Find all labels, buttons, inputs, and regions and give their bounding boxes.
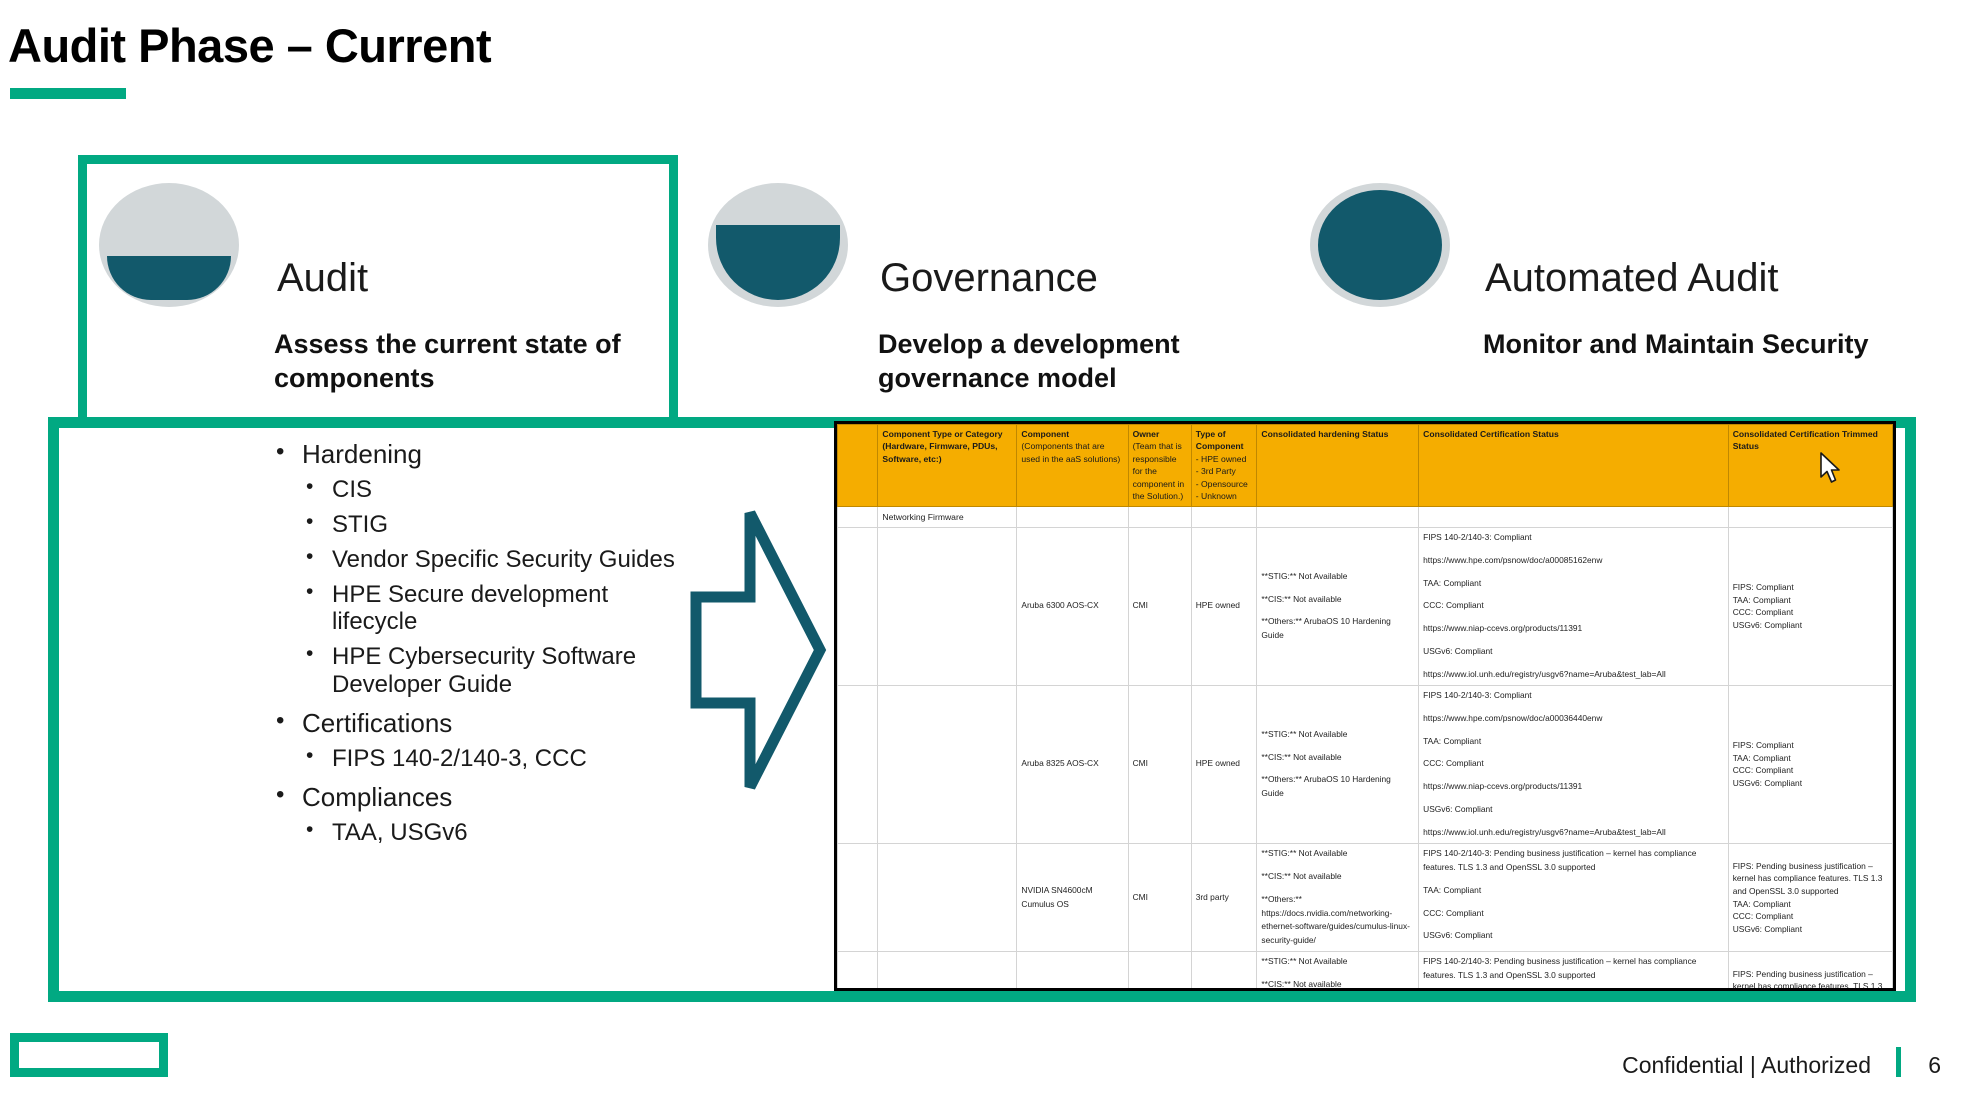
- mouse-cursor-icon: [1820, 452, 1846, 486]
- certification-line: FIPS 140-2/140-3: Pending business justi…: [1423, 847, 1724, 875]
- trimmed-line: TAA: Compliant: [1733, 594, 1888, 607]
- footer-classification: Confidential | Authorized: [1622, 1052, 1871, 1079]
- certification-line: CCC: Compliant: [1423, 757, 1724, 771]
- hardening-line: **CIS:** Not available: [1261, 978, 1414, 991]
- trimmed-line: FIPS: Compliant: [1733, 581, 1888, 594]
- list-item: Vendor Specific Security Guides: [302, 546, 692, 574]
- trimmed-line: FIPS: Pending business justification – k…: [1733, 860, 1888, 898]
- table-row[interactable]: NVIDIA SN4700M Cumulus OS CMI 3rd party …: [838, 952, 1893, 991]
- column-header-certification-status[interactable]: Consolidated Certification Status: [1419, 425, 1729, 507]
- owner-cell[interactable]: CMI: [1128, 527, 1191, 685]
- filled-circle-icon: [1310, 183, 1450, 307]
- owner-cell[interactable]: CMI: [1128, 952, 1191, 991]
- table-row[interactable]: Aruba 8325 AOS-CX CMI HPE owned **STIG:*…: [838, 685, 1893, 843]
- certification-line: USGv6: Compliant: [1423, 645, 1724, 659]
- trimmed-cell[interactable]: FIPS: Compliant TAA: Compliant CCC: Comp…: [1728, 685, 1892, 843]
- title-accent-rule: [10, 88, 126, 99]
- hardening-line: **STIG:** Not Available: [1261, 955, 1414, 969]
- trimmed-cell[interactable]: FIPS: Pending business justification – k…: [1728, 952, 1892, 991]
- type-cell[interactable]: 3rd party: [1191, 952, 1257, 991]
- trimmed-cell[interactable]: FIPS: Pending business justification – k…: [1728, 843, 1892, 951]
- page-title: Audit Phase – Current: [8, 18, 491, 73]
- certification-line: TAA: Compliant: [1423, 884, 1724, 898]
- table-row[interactable]: Aruba 6300 AOS-CX CMI HPE owned **STIG:*…: [838, 527, 1893, 685]
- type-cell[interactable]: [1191, 506, 1257, 527]
- certification-line: CCC: Compliant: [1423, 599, 1724, 613]
- certification-cell[interactable]: FIPS 140-2/140-3: Pending business justi…: [1419, 952, 1729, 991]
- column-header-type-label: Type of Component: [1196, 428, 1253, 453]
- hardening-line: **STIG:** Not Available: [1261, 847, 1414, 861]
- certification-line: TAA: Compliant: [1423, 735, 1724, 749]
- type-cell[interactable]: 3rd party: [1191, 843, 1257, 951]
- column-header-rownum[interactable]: [838, 425, 878, 507]
- certification-line: https://www.iol.unh.edu/registry/usgv6?n…: [1423, 826, 1724, 840]
- column-header-hardening-label: Consolidated hardening Status: [1261, 428, 1414, 440]
- table-header-row: Component Type or Category (Hardware, Fi…: [838, 425, 1893, 507]
- phase-audit-title: Audit: [277, 256, 368, 301]
- column-header-component-type-label: Component Type or Category (Hardware, Fi…: [882, 428, 1012, 465]
- component-cell[interactable]: [1017, 506, 1128, 527]
- page-number: 6: [1928, 1052, 1941, 1079]
- hardening-cell[interactable]: **STIG:** Not Available **CIS:** Not ava…: [1257, 685, 1419, 843]
- row-number-cell[interactable]: [838, 952, 878, 991]
- trimmed-line: CCC: Compliant: [1733, 764, 1888, 777]
- column-header-type-of-component[interactable]: Type of Component - HPE owned - 3rd Part…: [1191, 425, 1257, 507]
- trimmed-cell[interactable]: [1728, 506, 1892, 527]
- category-cell[interactable]: [878, 527, 1017, 685]
- column-header-component-type[interactable]: Component Type or Category (Hardware, Fi…: [878, 425, 1017, 507]
- column-header-hardening-status[interactable]: Consolidated hardening Status: [1257, 425, 1419, 507]
- list-item: Hardening: [272, 439, 692, 469]
- hardening-line: **CIS:** Not available: [1261, 870, 1414, 884]
- hardening-cell[interactable]: **STIG:** Not Available **CIS:** Not ava…: [1257, 527, 1419, 685]
- list-item: TAA, USGv6: [302, 819, 692, 847]
- type-cell[interactable]: HPE owned: [1191, 685, 1257, 843]
- table-row[interactable]: Networking Firmware: [838, 506, 1893, 527]
- hardening-line: **CIS:** Not available: [1261, 593, 1414, 607]
- certification-line: https://www.hpe.com/psnow/doc/a00085162e…: [1423, 554, 1724, 568]
- owner-cell[interactable]: CMI: [1128, 685, 1191, 843]
- type-cell[interactable]: HPE owned: [1191, 527, 1257, 685]
- hardening-line: **STIG:** Not Available: [1261, 570, 1414, 584]
- hpe-logo: [10, 1033, 168, 1077]
- trimmed-line: FIPS: Compliant: [1733, 739, 1888, 752]
- two-thirds-filled-circle-icon: [708, 183, 848, 307]
- certification-line: FIPS 140-2/140-3: Compliant: [1423, 689, 1724, 703]
- column-header-owner[interactable]: Owner (Team that is responsible for the …: [1128, 425, 1191, 507]
- list-item: CIS: [302, 476, 692, 504]
- certification-cell[interactable]: [1419, 506, 1729, 527]
- list-item: STIG: [302, 511, 692, 539]
- certification-line: CCC: Compliant: [1423, 907, 1724, 921]
- owner-cell[interactable]: [1128, 506, 1191, 527]
- certification-cell[interactable]: FIPS 140-2/140-3: Compliant https://www.…: [1419, 527, 1729, 685]
- table-row[interactable]: NVIDIA SN4600cM Cumulus OS CMI 3rd party…: [838, 843, 1893, 951]
- hardening-line: **CIS:** Not available: [1261, 751, 1414, 765]
- list-item: HPE Cybersecurity Software Developer Gui…: [302, 643, 692, 699]
- certification-line: TAA: Compliant: [1423, 577, 1724, 591]
- trimmed-line: FIPS: Pending business justification – k…: [1733, 968, 1888, 991]
- column-header-trimmed-label: Consolidated Certification Trimmed Statu…: [1733, 428, 1888, 453]
- trimmed-line: USGv6: Compliant: [1733, 777, 1888, 790]
- list-item: HPE Secure development lifecycle: [302, 581, 692, 637]
- column-header-type-note: - HPE owned - 3rd Party - Opensource - U…: [1196, 453, 1253, 503]
- table-body: Networking Firmware Aruba 6300 AOS-CX CM…: [838, 506, 1893, 991]
- category-cell[interactable]: Networking Firmware: [878, 506, 1017, 527]
- trimmed-line: CCC: Compliant: [1733, 606, 1888, 619]
- trimmed-line: TAA: Compliant: [1733, 898, 1888, 911]
- trimmed-line: TAA: Compliant: [1733, 752, 1888, 765]
- row-number-cell[interactable]: [838, 843, 878, 951]
- trimmed-line: USGv6: Compliant: [1733, 619, 1888, 632]
- column-header-owner-label: Owner: [1133, 428, 1187, 440]
- audit-detail-list: Hardening CIS STIG Vendor Specific Secur…: [272, 430, 692, 847]
- column-header-component-note: (Components that are used in the aaS sol…: [1021, 440, 1123, 465]
- row-number-cell[interactable]: [838, 685, 878, 843]
- component-inventory-table[interactable]: Component Type or Category (Hardware, Fi…: [834, 421, 1896, 991]
- footer-divider: [1896, 1047, 1901, 1077]
- certification-line: https://www.niap-ccevs.org/products/1139…: [1423, 622, 1724, 636]
- phase-audit-subtitle: Assess the current state of components: [274, 328, 674, 396]
- category-cell[interactable]: [878, 843, 1017, 951]
- certification-cell[interactable]: FIPS 140-2/140-3: Compliant https://www.…: [1419, 685, 1729, 843]
- certification-cell[interactable]: FIPS 140-2/140-3: Pending business justi…: [1419, 843, 1729, 951]
- phase-governance-title: Governance: [880, 256, 1098, 301]
- component-cell[interactable]: Aruba 8325 AOS-CX: [1017, 685, 1128, 843]
- column-header-certification-label: Consolidated Certification Status: [1423, 428, 1724, 440]
- table-grid: Component Type or Category (Hardware, Fi…: [837, 424, 1893, 991]
- list-item: Compliances: [272, 782, 692, 812]
- hardening-line: **Others:** https://docs.nvidia.com/netw…: [1261, 893, 1414, 948]
- trimmed-cell[interactable]: FIPS: Compliant TAA: Compliant CCC: Comp…: [1728, 527, 1892, 685]
- hardening-line: **Others:** ArubaOS 10 Hardening Guide: [1261, 773, 1414, 801]
- column-header-owner-note: (Team that is responsible for the compon…: [1133, 440, 1187, 502]
- certification-line: https://www.niap-ccevs.org/products/1139…: [1423, 780, 1724, 794]
- trimmed-line: USGv6: Compliant: [1733, 923, 1888, 936]
- component-cell[interactable]: NVIDIA SN4700M Cumulus OS: [1017, 952, 1128, 991]
- phase-automated-audit-title: Automated Audit: [1485, 256, 1779, 301]
- certification-line: https://www.hpe.com/psnow/doc/a00036440e…: [1423, 712, 1724, 726]
- certification-line: https://www.iol.unh.edu/registry/usgv6?n…: [1423, 668, 1724, 682]
- certification-line: FIPS 140-2/140-3: Pending business justi…: [1423, 955, 1724, 983]
- trimmed-line: CCC: Compliant: [1733, 910, 1888, 923]
- row-number-cell[interactable]: [838, 527, 878, 685]
- row-number-cell[interactable]: [838, 506, 878, 527]
- column-header-certification-trimmed-status[interactable]: Consolidated Certification Trimmed Statu…: [1728, 425, 1892, 507]
- hardening-line: **Others:** ArubaOS 10 Hardening Guide: [1261, 615, 1414, 643]
- owner-cell[interactable]: CMI: [1128, 843, 1191, 951]
- category-cell[interactable]: [878, 952, 1017, 991]
- certification-line: USGv6: Compliant: [1423, 929, 1724, 943]
- component-cell[interactable]: NVIDIA SN4600cM Cumulus OS: [1017, 843, 1128, 951]
- hardening-cell[interactable]: [1257, 506, 1419, 527]
- column-header-component[interactable]: Component (Components that are used in t…: [1017, 425, 1128, 507]
- hardening-line: **STIG:** Not Available: [1261, 728, 1414, 742]
- column-header-component-label: Component: [1021, 428, 1123, 440]
- half-filled-circle-icon: [99, 183, 239, 307]
- certification-line: USGv6: Compliant: [1423, 803, 1724, 817]
- category-cell[interactable]: [878, 685, 1017, 843]
- list-item: FIPS 140-2/140-3, CCC: [302, 745, 692, 773]
- phase-automated-audit-subtitle: Monitor and Maintain Security: [1483, 328, 1883, 362]
- component-cell[interactable]: Aruba 6300 AOS-CX: [1017, 527, 1128, 685]
- list-item: Certifications: [272, 708, 692, 738]
- slide-canvas: Audit Phase – Current Audit Assess the c…: [0, 0, 1971, 1105]
- right-arrow-icon: [688, 505, 828, 800]
- hardening-cell[interactable]: **STIG:** Not Available **CIS:** Not ava…: [1257, 843, 1419, 951]
- hardening-cell[interactable]: **STIG:** Not Available **CIS:** Not ava…: [1257, 952, 1419, 991]
- certification-line: FIPS 140-2/140-3: Compliant: [1423, 531, 1724, 545]
- phase-governance-subtitle: Develop a development governance model: [878, 328, 1278, 396]
